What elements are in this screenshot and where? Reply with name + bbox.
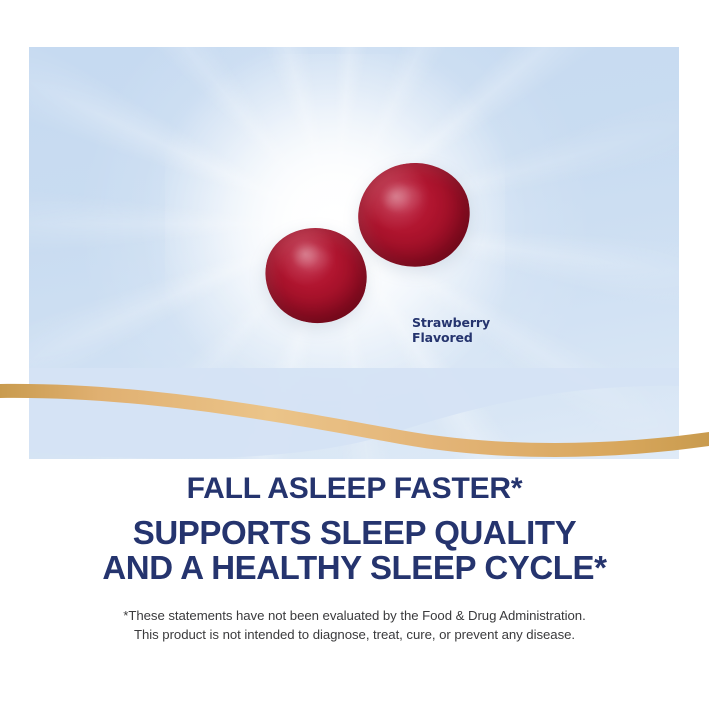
disclaimer-line-1: *These statements have not been evaluate… [0,606,709,625]
headline-line-1: FALL ASLEEP FASTER* [0,472,709,506]
hero-panel: Strawberry Flavored [29,47,679,459]
flavor-caption: Strawberry Flavored [412,315,490,345]
disclaimer-block: *These statements have not been evaluate… [0,606,709,644]
headline-block: FALL ASLEEP FASTER* SUPPORTS SLEEP QUALI… [0,472,709,585]
headline-line-3: AND A HEALTHY SLEEP CYCLE* [0,550,709,585]
product-marketing-poster: Strawberry Flavored FALL ASLEEP FASTER* … [0,0,709,709]
headline-line-2: SUPPORTS SLEEP QUALITY [0,515,709,550]
disclaimer-line-2: This product is not intended to diagnose… [0,625,709,644]
